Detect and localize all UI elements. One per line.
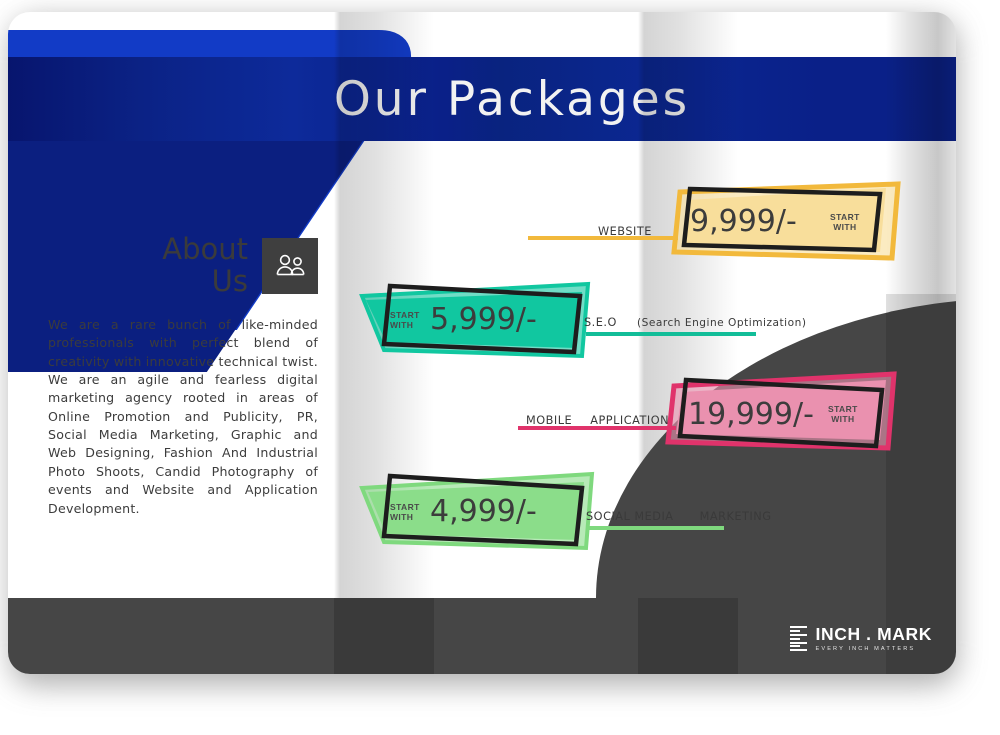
package-startwith-seo: START WITH bbox=[390, 310, 420, 330]
package-price-mobile: 19,999/- bbox=[688, 397, 814, 432]
ruler-scale-icon bbox=[790, 626, 807, 651]
package-price-seo: 5,999/- bbox=[430, 302, 537, 337]
package-label-seo: S.E.O (Search Engine Optimization) bbox=[584, 316, 806, 329]
package-label-mobile: MOBILE APPLICATION bbox=[526, 414, 669, 427]
about-us-heading-text: About Us bbox=[162, 234, 248, 298]
about-us-heading-line2: Us bbox=[162, 266, 248, 298]
about-us-block: About Us We are a rare bunch of like-min… bbox=[48, 234, 318, 518]
brand-logo: INCH . MARK EVERY INCH MATTERS bbox=[790, 626, 932, 653]
brand-tagline: EVERY INCH MATTERS bbox=[816, 646, 932, 652]
page-title: Our Packages bbox=[334, 72, 690, 127]
poster-root: Our Packages About Us bbox=[0, 0, 1000, 735]
about-us-body-text: We are a rare bunch of like-minded profe… bbox=[48, 316, 318, 518]
brand-name: INCH . MARK bbox=[816, 626, 932, 644]
package-price-website: 9,999/- bbox=[690, 204, 797, 239]
package-label-social: SOCIAL MEDIA MARKETING bbox=[586, 510, 771, 523]
people-group-icon bbox=[262, 238, 318, 294]
package-card-seo[interactable]: 5,999/- START WITH S.E.O (Search Engine … bbox=[356, 270, 826, 370]
about-us-heading-line1: About bbox=[162, 234, 248, 266]
package-startwith-social: START WITH bbox=[390, 502, 420, 522]
brochure-page: Our Packages About Us bbox=[8, 12, 956, 674]
package-startwith-mobile: START WITH bbox=[828, 404, 858, 424]
package-price-social: 4,999/- bbox=[430, 494, 537, 529]
package-card-website[interactable]: 9,999/- START WITH WEBSITE bbox=[528, 180, 948, 276]
package-startwith-website: START WITH bbox=[830, 212, 860, 232]
about-us-heading: About Us bbox=[48, 234, 318, 298]
header-band: Our Packages bbox=[8, 57, 956, 141]
package-card-social-media-marketing[interactable]: 4,999/- START WITH SOCIAL MEDIA MARKETIN… bbox=[356, 462, 796, 564]
package-card-mobile-application[interactable]: 19,999/- START WITH MOBILE APPLICATION bbox=[508, 364, 948, 468]
package-label-website: WEBSITE bbox=[598, 225, 652, 238]
brand-logo-text: INCH . MARK EVERY INCH MATTERS bbox=[816, 626, 932, 653]
